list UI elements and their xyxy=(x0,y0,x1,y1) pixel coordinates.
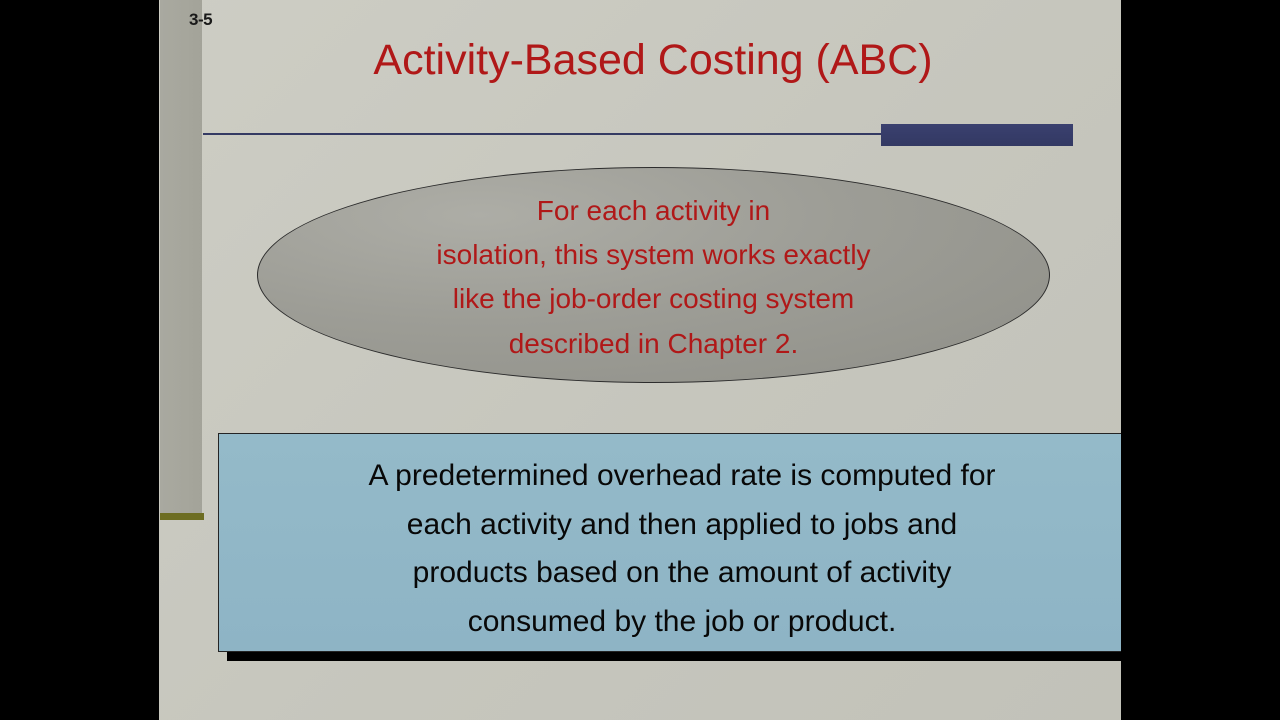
slide-side-strip-rule xyxy=(160,513,204,520)
blue-callout-box: A predetermined overhead rate is compute… xyxy=(218,433,1121,652)
ellipse-callout-text: For each activity in isolation, this sys… xyxy=(317,189,990,366)
ellipse-callout: For each activity in isolation, this sys… xyxy=(257,167,1050,383)
slide-side-strip xyxy=(160,0,202,514)
blue-callout-text: A predetermined overhead rate is compute… xyxy=(239,452,1121,646)
blue-callout-line: consumed by the job or product. xyxy=(239,598,1121,647)
title-accent-block xyxy=(881,124,1073,146)
ellipse-callout-line: described in Chapter 2. xyxy=(317,322,990,366)
title-divider-rule xyxy=(203,133,883,135)
blue-callout-line: products based on the amount of activity xyxy=(239,549,1121,598)
letterboxed-stage: 3-5 Activity-Based Costing (ABC) For eac… xyxy=(0,0,1280,720)
slide-number: 3-5 xyxy=(189,11,212,28)
page-title: Activity-Based Costing (ABC) xyxy=(203,38,1103,83)
ellipse-callout-line: For each activity in xyxy=(317,189,990,233)
blue-callout-line: each activity and then applied to jobs a… xyxy=(239,501,1121,550)
presentation-slide: 3-5 Activity-Based Costing (ABC) For eac… xyxy=(159,0,1121,720)
blue-callout-line: A predetermined overhead rate is compute… xyxy=(239,452,1121,501)
ellipse-callout-line: like the job-order costing system xyxy=(317,277,990,321)
ellipse-callout-line: isolation, this system works exactly xyxy=(317,233,990,277)
